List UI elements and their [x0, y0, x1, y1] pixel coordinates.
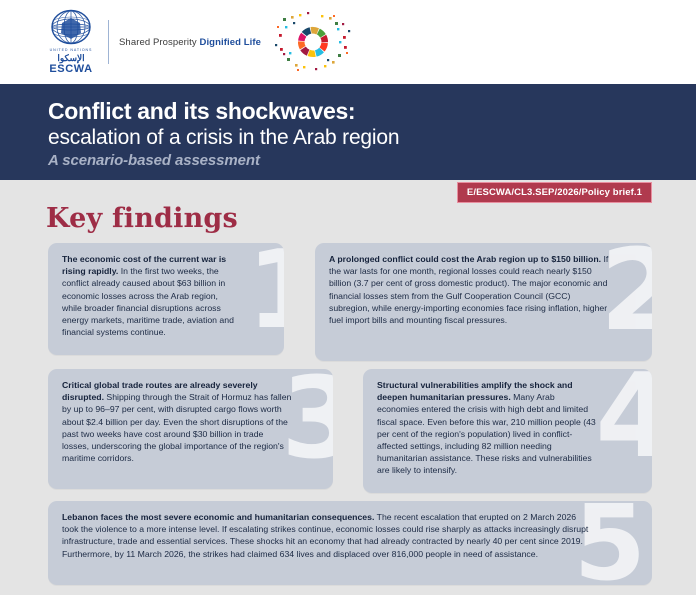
finding-card-5: 5 Lebanon faces the most severe economic…	[48, 501, 652, 585]
finding-body-1: In the first two weeks, the conflict alr…	[62, 266, 234, 337]
finding-card-2: 2 A prolonged conflict could cost the Ar…	[315, 243, 652, 361]
un-arabic-label: الإسكوا	[57, 53, 84, 63]
tagline-bold: Dignified Life	[199, 37, 261, 48]
title-banner: Conflict and its shockwaves: escalation …	[0, 84, 696, 180]
tagline: Shared Prosperity Dignified Life	[119, 37, 261, 48]
finding-card-1: 1 The economic cost of the current war i…	[48, 243, 284, 355]
tagline-plain: Shared Prosperity	[119, 37, 199, 48]
un-logo: UNITED NATIONS الإسكوا ESCWA	[40, 9, 102, 75]
finding-text-3: Critical global trade routes are already…	[48, 369, 306, 474]
banner-title-line2: escalation of a crisis in the Arab regio…	[48, 125, 696, 150]
document-code-badge: E/ESCWA/CL3.SEP/2026/Policy brief.1	[457, 182, 652, 203]
finding-card-4: 4 Structural vulnerabilities amplify the…	[363, 369, 652, 493]
page-header: UNITED NATIONS الإسكوا ESCWA Shared Pros…	[0, 0, 696, 84]
finding-body-3: Shipping through the Strait of Hormuz ha…	[62, 392, 291, 463]
escwa-logo-block: UNITED NATIONS الإسكوا ESCWA Shared Pros…	[40, 9, 357, 75]
un-caption: UNITED NATIONS	[50, 48, 93, 52]
finding-body-2: If the war lasts for one month, regional…	[329, 254, 608, 325]
finding-card-3: 3 Critical global trade routes are alrea…	[48, 369, 333, 489]
un-escwa-label: ESCWA	[49, 63, 92, 75]
page-title: Key findings	[46, 203, 238, 234]
logo-divider	[108, 20, 109, 64]
sdg-wheel-icon	[269, 11, 357, 73]
finding-text-2: A prolonged conflict could cost the Arab…	[315, 243, 627, 336]
finding-body-4: Many Arab economies entered the crisis w…	[377, 392, 596, 475]
policy-brief-page: UNITED NATIONS الإسكوا ESCWA Shared Pros…	[0, 0, 696, 595]
finding-text-5: Lebanon faces the most severe economic a…	[48, 501, 608, 570]
banner-subtitle: A scenario-based assessment	[48, 151, 696, 171]
un-emblem-icon	[49, 9, 93, 47]
finding-lead-5: Lebanon faces the most severe economic a…	[62, 512, 374, 522]
banner-title-line1: Conflict and its shockwaves:	[48, 98, 696, 125]
finding-lead-2: A prolonged conflict could cost the Arab…	[329, 254, 601, 264]
finding-text-4: Structural vulnerabilities amplify the s…	[363, 369, 613, 487]
finding-text-1: The economic cost of the current war is …	[48, 243, 254, 348]
